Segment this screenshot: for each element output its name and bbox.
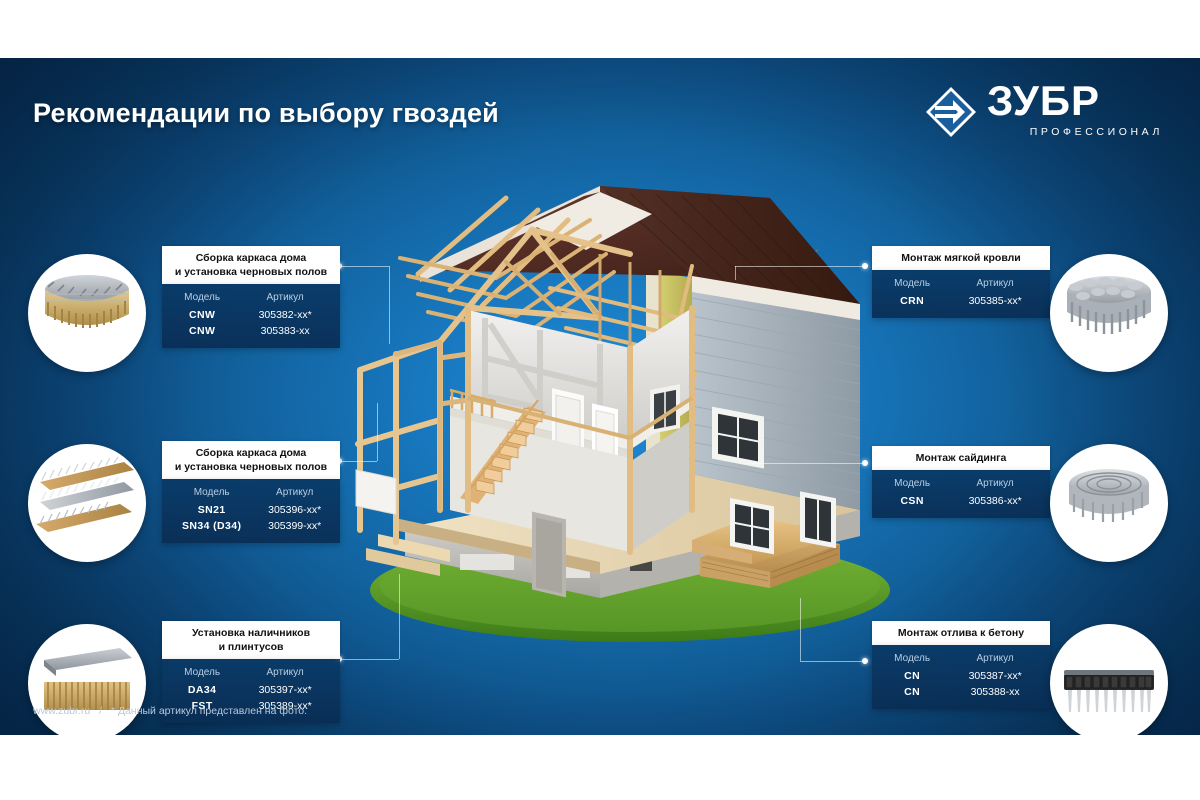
column-header-model: Модель — [878, 477, 946, 493]
column-header-model: Модель — [168, 666, 236, 682]
product-photo-angled-nail-strips — [28, 444, 146, 562]
card-title-line1: Монтаж сайдинга — [878, 451, 1044, 465]
card-title: Монтаж отлива к бетону — [872, 621, 1050, 645]
card-title-line1: Сборка каркаса дома — [168, 251, 334, 265]
column-header-article: Артикул — [946, 652, 1044, 668]
table-row: CRN 305385-xx* — [878, 293, 1044, 309]
card-title: Сборка каркаса дома и установка черновых… — [162, 246, 340, 284]
card-title-line2: и установка черновых полов — [168, 460, 334, 474]
callout-card-frame-assembly-subfloor-cnw[interactable]: Сборка каркаса дома и установка черновых… — [162, 246, 340, 348]
card-title: Сборка каркаса дома и установка черновых… — [162, 441, 340, 479]
table-row: CSN 305386-xx* — [878, 493, 1044, 509]
product-photo-roofing-coil-nails — [1050, 254, 1168, 372]
cutaway-house-illustration — [300, 158, 920, 648]
table-row: DA34 305397-xx* — [168, 682, 334, 698]
spec-table: Модель Артикул CNW 305382-xx* CNW 305383… — [168, 291, 334, 339]
card-title: Монтаж мягкой кровли — [872, 246, 1050, 270]
card-title-line1: Монтаж мягкой кровли — [878, 251, 1044, 265]
card-body: Модель Артикул CN 305387-xx* CN 305388-x… — [872, 645, 1050, 709]
callout-card-siding-mounting[interactable]: Монтаж сайдинга Модель Артикул CSN 30538… — [872, 446, 1050, 518]
product-photo-concrete-pin-nails — [1050, 624, 1168, 735]
spec-table: Модель Артикул CSN 305386-xx* — [878, 477, 1044, 509]
card-title-line1: Установка наличников — [168, 626, 334, 640]
table-row: CNW 305382-xx* — [168, 307, 334, 323]
column-header-article: Артикул — [236, 291, 334, 307]
column-header-model: Модель — [878, 652, 946, 668]
card-title: Установка наличников и плинтусов — [162, 621, 340, 659]
footer-separator: / — [99, 705, 102, 717]
brand-logo: ЗУБР ПРОФЕССИОНАЛ — [925, 78, 1165, 148]
table-row: SN21 305396-xx* — [168, 502, 334, 518]
table-row: SN34 (D34) 305399-xx* — [168, 518, 334, 534]
column-header-article: Артикул — [946, 477, 1044, 493]
callout-card-concrete-flashing-mounting[interactable]: Монтаж отлива к бетону Модель Артикул CN… — [872, 621, 1050, 709]
card-title-line1: Монтаж отлива к бетону — [878, 626, 1044, 640]
card-body: Модель Артикул CNW 305382-xx* CNW 305383… — [162, 284, 340, 348]
footer: www.zubr.ru / * Данный артикул представл… — [33, 705, 313, 717]
callout-card-soft-roof-mounting[interactable]: Монтаж мягкой кровли Модель Артикул CRN … — [872, 246, 1050, 318]
column-header-model: Модель — [168, 486, 255, 502]
card-body: Модель Артикул SN21 305396-xx* SN34 (D34… — [162, 479, 340, 543]
column-header-model: Модель — [878, 277, 946, 293]
card-body: Модель Артикул CRN 305385-xx* — [872, 270, 1050, 318]
spec-table: Модель Артикул CN 305387-xx* CN 305388-x… — [878, 652, 1044, 700]
product-photo-coil-nails-drum — [28, 254, 146, 372]
footer-note: * Данный артикул представлен на фото. — [111, 705, 307, 717]
logo-wordmark: ЗУБР — [987, 80, 1100, 122]
zubr-arrow-diamond-icon — [925, 86, 977, 138]
product-photo-siding-coil-nails — [1050, 444, 1168, 562]
table-row: CNW 305383-xx — [168, 323, 334, 339]
card-title: Монтаж сайдинга — [872, 446, 1050, 470]
product-photo-brad-nail-strip — [28, 624, 146, 735]
column-header-article: Артикул — [946, 277, 1044, 293]
table-row: CN 305388-xx — [878, 684, 1044, 700]
card-title-line2: и установка черновых полов — [168, 265, 334, 279]
spec-table: Модель Артикул CRN 305385-xx* — [878, 277, 1044, 309]
spec-table: Модель Артикул SN21 305396-xx* SN34 (D34… — [168, 486, 334, 534]
logo-subtitle: ПРОФЕССИОНАЛ — [1030, 126, 1163, 138]
card-title-line1: Сборка каркаса дома — [168, 446, 334, 460]
card-body: Модель Артикул CSN 305386-xx* — [872, 470, 1050, 518]
column-header-article: Артикул — [255, 486, 334, 502]
card-title-line2: и плинтусов — [168, 640, 334, 654]
infographic-poster: Рекомендации по выбору гвоздей ЗУБР ПРОФ… — [0, 58, 1200, 735]
page-title: Рекомендации по выбору гвоздей — [33, 98, 499, 129]
table-row: CN 305387-xx* — [878, 668, 1044, 684]
column-header-model: Модель — [168, 291, 236, 307]
column-header-article: Артикул — [236, 666, 334, 682]
callout-card-frame-assembly-subfloor-sn[interactable]: Сборка каркаса дома и установка черновых… — [162, 441, 340, 543]
footer-site[interactable]: www.zubr.ru — [33, 705, 90, 717]
